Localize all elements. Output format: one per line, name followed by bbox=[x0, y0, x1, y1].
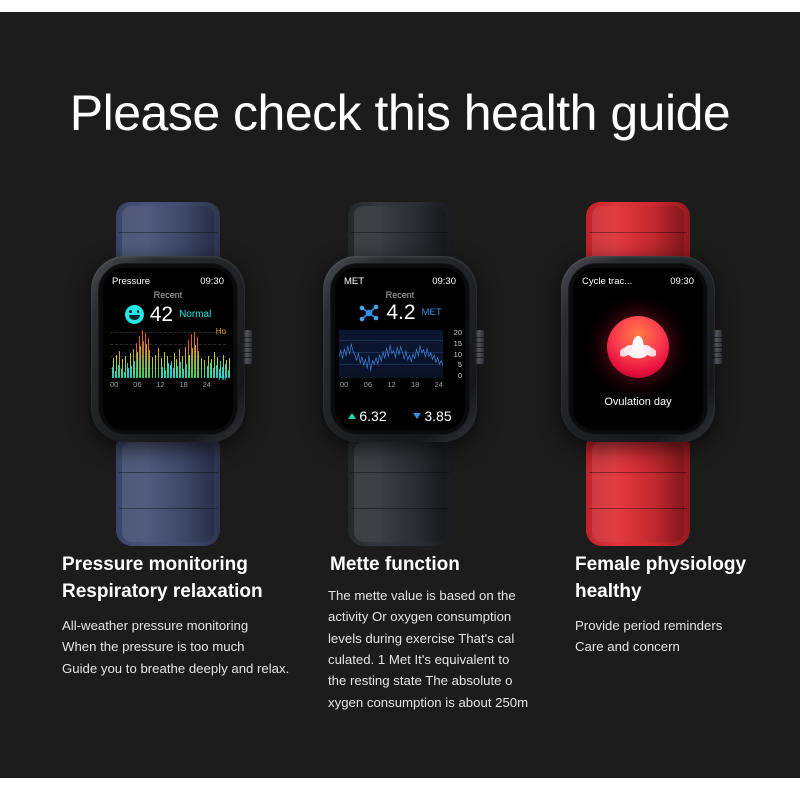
feature-body: The mette value is based on theactivity … bbox=[328, 585, 563, 713]
bar bbox=[137, 352, 138, 378]
clock-time: 09:30 bbox=[670, 276, 694, 287]
watch-screen-met[interactable]: MET 09:30 Recent bbox=[335, 268, 465, 430]
met-stats: 6.32 3.85 bbox=[335, 408, 465, 424]
stat-min: 3.85 bbox=[413, 408, 451, 424]
x-tick: 18 bbox=[411, 380, 419, 389]
status-bar: MET 09:30 bbox=[335, 274, 465, 288]
watch-strap-bottom bbox=[116, 438, 220, 546]
feature-body-line: levels during exercise That's cal bbox=[328, 628, 563, 649]
x-tick: 24 bbox=[435, 380, 443, 389]
feature-body-line: All-weather pressure monitoring bbox=[62, 615, 312, 636]
stat-max-value: 6.32 bbox=[359, 408, 386, 424]
bar bbox=[192, 348, 193, 378]
met-summary: 4.2 MET bbox=[335, 302, 465, 323]
screen-subtitle: Recent bbox=[103, 290, 233, 300]
bar bbox=[155, 355, 156, 378]
watch-screen-pressure[interactable]: Pressure 09:30 Recent 42 Normal bbox=[103, 268, 233, 430]
cycle-caption: Ovulation day bbox=[573, 396, 703, 408]
bar bbox=[201, 358, 202, 378]
x-axis-ticks: 0006121824 bbox=[340, 380, 443, 389]
pressure-state: Normal bbox=[179, 309, 211, 320]
watch-crown[interactable] bbox=[713, 330, 722, 364]
bar bbox=[152, 357, 153, 378]
feature-heading: Pressure monitoringRespiratory relaxatio… bbox=[62, 552, 312, 606]
feature-heading: Mette function bbox=[330, 552, 563, 579]
bar bbox=[189, 355, 190, 378]
y-axis-ticks: 20151050 bbox=[444, 328, 462, 380]
feature-body-line: xygen consumption is about 250m bbox=[328, 692, 563, 713]
clock-time: 09:30 bbox=[200, 276, 224, 287]
watch-card-met[interactable]: MET 09:30 Recent bbox=[270, 190, 530, 550]
stat-max: 6.32 bbox=[348, 408, 386, 424]
watch-body: Pressure 09:30 Recent 42 Normal bbox=[91, 256, 245, 442]
watch-strap-bottom bbox=[586, 438, 690, 546]
x-tick: 24 bbox=[203, 380, 211, 389]
feature-body-line: Guide you to breathe deeply and relax. bbox=[62, 658, 312, 679]
feature-body-line: the resting state The absolute o bbox=[328, 670, 563, 691]
cycle-orb bbox=[607, 316, 669, 378]
feature-heading-line: Mette function bbox=[330, 552, 563, 579]
met-unit: MET bbox=[422, 307, 442, 318]
status-bar: Cycle trac... 09:30 bbox=[573, 274, 703, 288]
feature-heading-line: healthy bbox=[575, 579, 785, 606]
watch-crown[interactable] bbox=[243, 330, 252, 364]
x-tick: 06 bbox=[364, 380, 372, 389]
x-tick: 18 bbox=[179, 380, 187, 389]
smiley-face-icon bbox=[125, 305, 144, 324]
feature-body: All-weather pressure monitoringWhen the … bbox=[62, 615, 312, 679]
watch-crown[interactable] bbox=[475, 330, 484, 364]
met-value: 4.2 bbox=[386, 302, 415, 323]
x-axis-ticks: 0006121824 bbox=[110, 380, 211, 389]
watch-card-pressure[interactable]: Pressure 09:30 Recent 42 Normal bbox=[38, 190, 298, 550]
y-tick: 5 bbox=[444, 360, 462, 369]
clock-time: 09:30 bbox=[432, 276, 456, 287]
feature-heading-line: Female physiology bbox=[575, 552, 785, 579]
x-tick: 12 bbox=[156, 380, 164, 389]
triangle-down-icon bbox=[413, 413, 421, 419]
lotus-flower-icon bbox=[620, 334, 656, 360]
screen-title: MET bbox=[344, 276, 364, 287]
bar bbox=[204, 360, 205, 378]
triangle-up-icon bbox=[348, 413, 356, 419]
feature-column-mette: Mette function The mette value is based … bbox=[328, 552, 563, 713]
molecule-icon bbox=[358, 303, 380, 323]
y-tick: 20 bbox=[444, 328, 462, 337]
feature-body: Provide period remindersCare and concern bbox=[575, 615, 785, 658]
feature-body-line: The mette value is based on the bbox=[328, 585, 563, 606]
bar bbox=[186, 364, 187, 378]
watch-card-cycle[interactable]: Cycle trac... 09:30 Ovulati bbox=[508, 190, 768, 550]
met-line-series bbox=[339, 330, 443, 378]
label-high: Ho bbox=[216, 327, 226, 336]
watch-strap-bottom bbox=[348, 438, 452, 546]
feature-descriptions: Pressure monitoringRespiratory relaxatio… bbox=[0, 552, 800, 752]
met-line-chart bbox=[339, 330, 443, 378]
feature-column-pressure: Pressure monitoringRespiratory relaxatio… bbox=[62, 552, 312, 679]
x-tick: 12 bbox=[387, 380, 395, 389]
bar bbox=[146, 344, 147, 378]
bar bbox=[140, 346, 141, 378]
pressure-bar-chart: Ho Ni bbox=[110, 330, 226, 378]
feature-body-line: When the pressure is too much bbox=[62, 636, 312, 657]
x-tick: 00 bbox=[110, 380, 118, 389]
stat-min-value: 3.85 bbox=[424, 408, 451, 424]
y-tick: 0 bbox=[444, 371, 462, 380]
pressure-summary: 42 Normal bbox=[103, 304, 233, 325]
x-tick: 06 bbox=[133, 380, 141, 389]
status-bar: Pressure 09:30 bbox=[103, 274, 233, 288]
bar bbox=[198, 351, 199, 378]
label-low: Ni bbox=[218, 373, 226, 382]
feature-body-line: activity Or oxygen consumption bbox=[328, 606, 563, 627]
feature-body-line: culated. 1 Met It's equivalent to bbox=[328, 649, 563, 670]
screen-subtitle: Recent bbox=[335, 290, 465, 300]
screen-title: Pressure bbox=[112, 276, 150, 287]
bar bbox=[149, 350, 150, 378]
poster-canvas: Please check this health guide bbox=[0, 12, 800, 778]
feature-column-female: Female physiologyhealthy Provide period … bbox=[575, 552, 785, 658]
feature-heading: Female physiologyhealthy bbox=[575, 552, 785, 606]
feature-body-line: Provide period reminders bbox=[575, 615, 785, 636]
watch-body: MET 09:30 Recent bbox=[323, 256, 477, 442]
bar bbox=[229, 358, 230, 378]
watch-screen-cycle[interactable]: Cycle trac... 09:30 Ovulati bbox=[573, 268, 703, 430]
page-title: Please check this health guide bbox=[0, 84, 800, 142]
bar bbox=[143, 341, 144, 378]
x-tick: 00 bbox=[340, 380, 348, 389]
watch-body: Cycle trac... 09:30 Ovulati bbox=[561, 256, 715, 442]
screen-title: Cycle trac... bbox=[582, 276, 632, 287]
bar bbox=[158, 348, 159, 378]
watch-gallery: Pressure 09:30 Recent 42 Normal bbox=[0, 190, 800, 550]
bar-series bbox=[112, 330, 210, 378]
feature-body-line: Care and concern bbox=[575, 636, 785, 657]
pressure-value: 42 bbox=[150, 304, 173, 325]
feature-heading-line: Respiratory relaxation bbox=[62, 579, 312, 606]
y-tick: 15 bbox=[444, 339, 462, 348]
y-tick: 10 bbox=[444, 350, 462, 359]
feature-heading-line: Pressure monitoring bbox=[62, 552, 312, 579]
bar bbox=[195, 345, 196, 378]
